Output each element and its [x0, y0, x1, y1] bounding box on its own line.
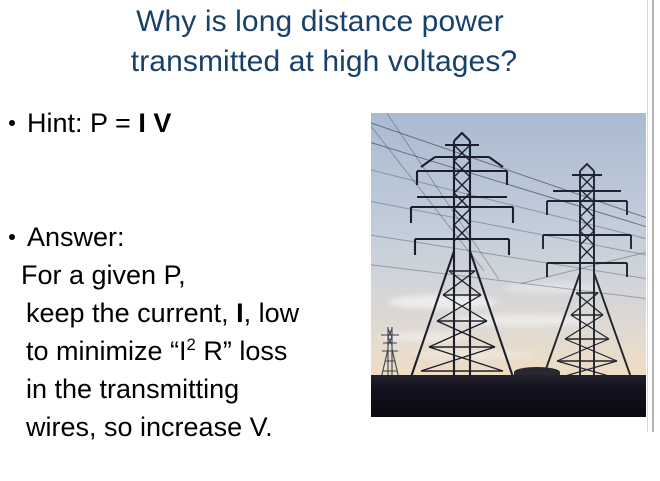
bullet-hint-text: Hint: P = I V [0, 104, 171, 142]
tower-left [397, 131, 527, 383]
bullet-dot-icon-2 [9, 234, 15, 240]
hint-emphasis: I V [138, 108, 171, 138]
tower-distant [377, 321, 403, 383]
tower-left-silhouette [397, 131, 527, 383]
tower-right [531, 161, 643, 383]
slide-canvas: Why is long distance power transmitted a… [0, 0, 660, 481]
answer-line-2-post: , low [244, 298, 300, 328]
answer-line-5: wires, so increase V. [0, 408, 380, 446]
tower-right-silhouette [531, 161, 643, 383]
answer-line-3-pre: to minimize “I [26, 336, 187, 366]
answer-line-3-post: R” loss [196, 336, 288, 366]
body-spacer-2 [0, 180, 380, 218]
tower-distant-silhouette [377, 321, 403, 383]
slide-body: Hint: P = I V Answer: For a given P, kee… [0, 104, 380, 446]
panel-edge-rule [652, 0, 654, 432]
answer-line-4: in the transmitting [0, 370, 380, 408]
answer-line-2-pre: keep the current, [26, 298, 236, 328]
panel-edge-light [647, 0, 648, 432]
title-line-2: transmitted at high voltages? [0, 42, 648, 82]
title-line-1: Why is long distance power [0, 2, 648, 42]
ground-band [371, 375, 646, 417]
bullet-item-hint: Hint: P = I V [0, 104, 380, 142]
page-title: Why is long distance power transmitted a… [0, 2, 648, 82]
transmission-towers-photo [371, 113, 646, 417]
answer-line-2: keep the current, I, low [0, 294, 380, 332]
answer-line-3: to minimize “I2 R” loss [0, 332, 380, 370]
hint-prefix: Hint: P = [27, 108, 138, 138]
bullet-dot-icon [9, 120, 15, 126]
bullet-answer-label: Answer: [0, 218, 125, 256]
body-spacer [0, 142, 380, 180]
answer-line-2-emphasis: I [236, 298, 244, 328]
answer-line-3-superscript: 2 [187, 335, 196, 354]
answer-line-1: For a given P, [0, 256, 380, 294]
bullet-item-answer: Answer: [0, 218, 380, 256]
